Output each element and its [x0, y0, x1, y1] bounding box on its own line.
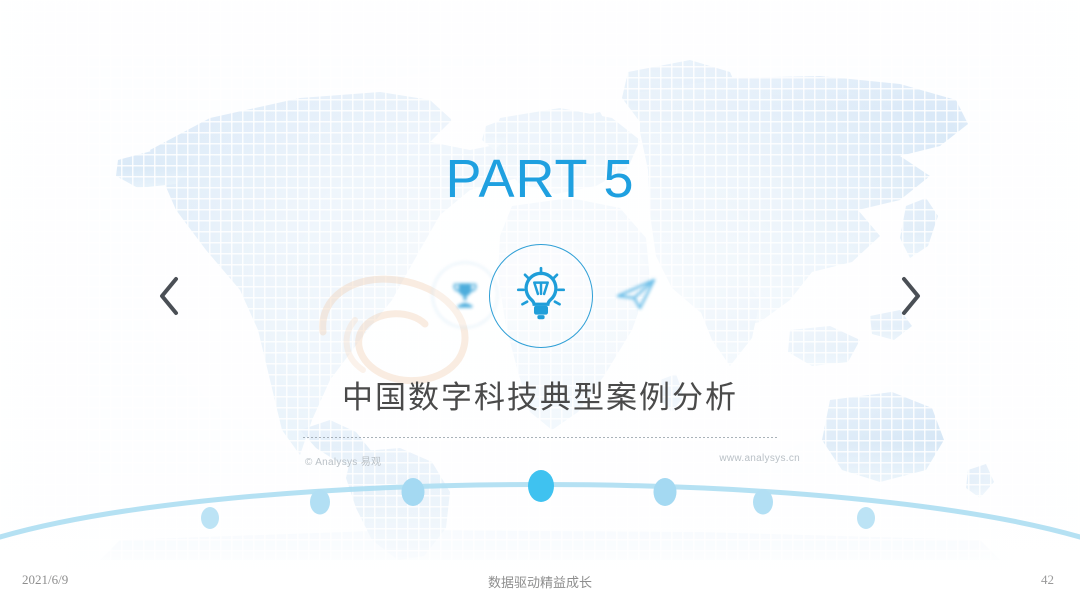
footer-page-number: 42 — [1041, 572, 1054, 588]
chevron-right-icon[interactable] — [890, 270, 932, 322]
slide-footer: 2021/6/9 数据驱动精益成长 42 — [0, 560, 1080, 608]
slide-canvas: PART 5 — [0, 0, 1080, 608]
dot-5[interactable] — [654, 478, 677, 506]
dot-4-active[interactable] — [528, 470, 554, 502]
lightbulb-icon-glyph — [508, 263, 574, 329]
dot-1[interactable] — [201, 507, 219, 529]
pagination-arc — [0, 430, 1080, 560]
trophy-icon-glyph — [448, 278, 482, 312]
paper-plane-icon — [604, 262, 668, 326]
dot-6[interactable] — [753, 490, 773, 515]
paper-plane-icon-glyph — [614, 274, 658, 314]
dot-3[interactable] — [402, 478, 425, 506]
slide-content: PART 5 — [0, 0, 1080, 560]
dot-2[interactable] — [310, 490, 330, 515]
chevron-left-glyph — [156, 274, 182, 318]
section-subtitle: 中国数字科技典型案例分析 — [0, 372, 1080, 417]
dot-7[interactable] — [857, 507, 875, 529]
chevron-left-icon[interactable] — [148, 270, 190, 322]
lightbulb-icon — [489, 244, 593, 348]
part-title: PART 5 — [0, 148, 1080, 210]
pagination-arc-svg — [0, 430, 1080, 560]
footer-tagline: 数据驱动精益成长 — [0, 572, 1080, 591]
chevron-right-glyph — [898, 274, 924, 318]
